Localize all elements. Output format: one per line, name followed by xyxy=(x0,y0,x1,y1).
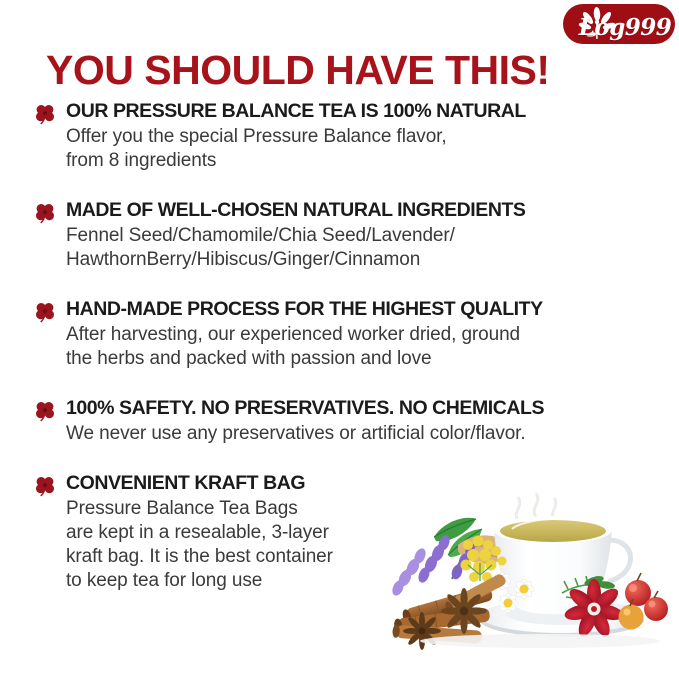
clover-flower-icon xyxy=(34,301,56,323)
feature-body: Fennel Seed/Chamomile/Chia Seed/Lavender… xyxy=(66,224,659,272)
feature-body: We never use any preservatives or artifi… xyxy=(66,422,659,446)
feature-body-line: Offer you the special Pressure Balance f… xyxy=(66,125,659,149)
brand-badge: Log999 xyxy=(563,4,675,44)
feature-body-line: After harvesting, our experienced worker… xyxy=(66,323,659,347)
clover-flower-icon xyxy=(34,202,56,224)
tea-liquid xyxy=(500,520,606,542)
clover-flower-icon xyxy=(34,475,56,497)
feature-body-line: the herbs and packed with passion and lo… xyxy=(66,347,659,371)
feature-title: OUR PRESSURE BALANCE TEA IS 100% NATURAL xyxy=(66,100,659,123)
clover-flower-icon xyxy=(34,103,56,125)
page-title: YOU SHOULD HAVE THIS! xyxy=(46,48,646,92)
feature-body-line: HawthornBerry/Hibiscus/Ginger/Cinnamon xyxy=(66,248,659,272)
feature-body: Offer you the special Pressure Balance f… xyxy=(66,125,659,173)
feature-title: 100% SAFETY. NO PRESERVATIVES. NO CHEMIC… xyxy=(66,397,659,420)
feature-body-line: from 8 ingredients xyxy=(66,149,659,173)
feature-item: HAND-MADE PROCESS FOR THE HIGHEST QUALIT… xyxy=(34,298,659,371)
clover-flower-icon xyxy=(34,400,56,422)
feature-body: After harvesting, our experienced worker… xyxy=(66,323,659,371)
feature-item: 100% SAFETY. NO PRESERVATIVES. NO CHEMIC… xyxy=(34,397,659,446)
feature-item: OUR PRESSURE BALANCE TEA IS 100% NATURAL… xyxy=(34,100,659,173)
herbal-tea-cup-photo xyxy=(390,485,675,650)
feature-title: MADE OF WELL-CHOSEN NATURAL INGREDIENTS xyxy=(66,199,659,222)
feature-body-line: We never use any preservatives or artifi… xyxy=(66,422,659,446)
feature-body-line: Fennel Seed/Chamomile/Chia Seed/Lavender… xyxy=(66,224,659,248)
brand-name: Log999 xyxy=(579,14,672,41)
feature-item: MADE OF WELL-CHOSEN NATURAL INGREDIENTS … xyxy=(34,199,659,272)
feature-title: HAND-MADE PROCESS FOR THE HIGHEST QUALIT… xyxy=(66,298,659,321)
